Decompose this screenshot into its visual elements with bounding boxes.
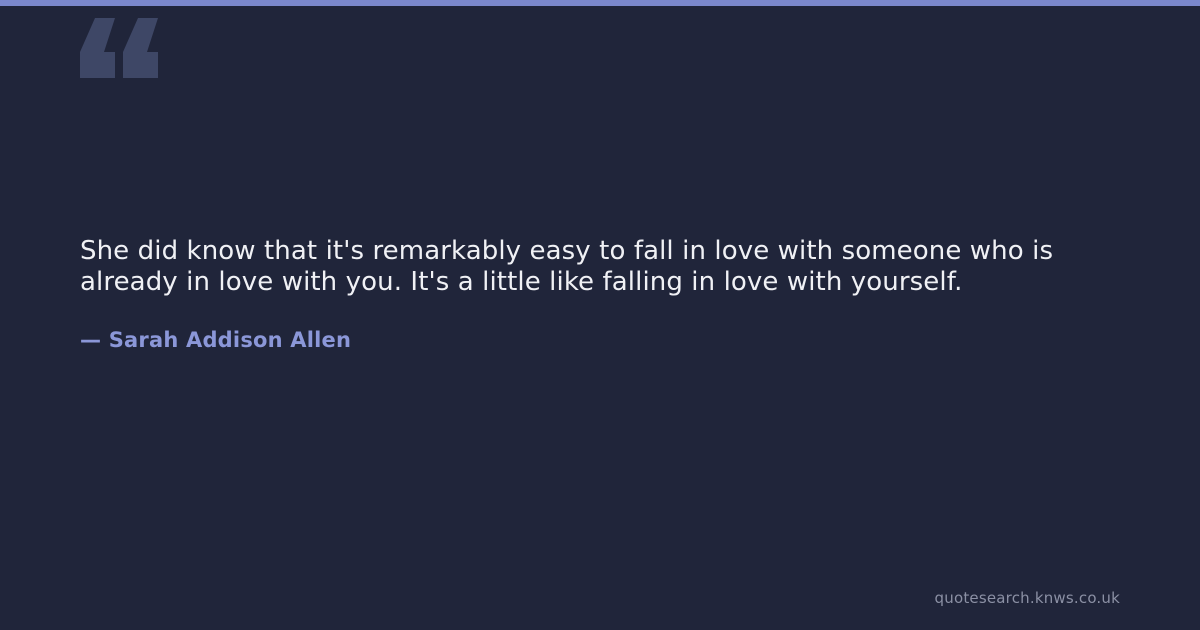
site-footer-url: quotesearch.knws.co.uk xyxy=(935,588,1120,608)
quote-content: She did know that it's remarkably easy t… xyxy=(80,236,1120,353)
attribution-dash: — xyxy=(80,328,101,352)
quote-text: She did know that it's remarkably easy t… xyxy=(80,236,1080,298)
double-quote-icon xyxy=(78,6,198,96)
attribution-author-name: Sarah Addison Allen xyxy=(109,328,351,352)
quote-attribution: — Sarah Addison Allen xyxy=(80,298,1120,353)
quote-card: She did know that it's remarkably easy t… xyxy=(0,0,1200,630)
